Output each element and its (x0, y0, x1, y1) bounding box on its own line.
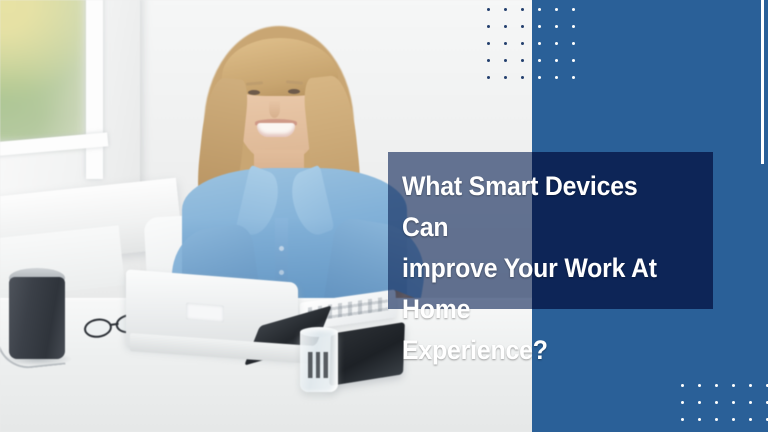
smile (257, 123, 295, 137)
banner-root: What Smart Devices Can improve Your Work… (0, 0, 768, 432)
grid-dot (715, 401, 718, 404)
glass-reflection (308, 352, 328, 378)
grid-dot (504, 42, 507, 45)
eye-right (288, 89, 300, 94)
laptop-logo (186, 303, 224, 323)
grid-dot (749, 384, 752, 387)
grid-dot (732, 384, 735, 387)
grid-dot (698, 418, 701, 421)
eye-left (248, 90, 260, 95)
grid-dot (521, 25, 524, 28)
eyeglass-lens-left (83, 317, 113, 340)
woman-portrait (178, 18, 408, 318)
grid-dot (572, 76, 575, 79)
grid-dot (521, 8, 524, 11)
white-vertical-rule (761, 0, 764, 164)
grid-dot (538, 59, 541, 62)
grid-dot (538, 76, 541, 79)
window-mullion-vertical (86, 0, 103, 179)
grid-dot (487, 25, 490, 28)
grid-dot (504, 59, 507, 62)
grid-dot (698, 384, 701, 387)
grid-dot (555, 8, 558, 11)
grid-dot (715, 418, 718, 421)
grid-dot (487, 59, 490, 62)
grid-dot (555, 76, 558, 79)
grid-dot (572, 59, 575, 62)
grid-dot (572, 42, 575, 45)
nose (269, 100, 280, 118)
grid-dot (555, 59, 558, 62)
grid-dot (504, 25, 507, 28)
grid-dot (749, 401, 752, 404)
grid-dot (715, 384, 718, 387)
dot-grid-bottom (681, 384, 768, 424)
grid-dot (698, 401, 701, 404)
grid-dot (681, 401, 684, 404)
grid-dot (681, 384, 684, 387)
grid-dot (572, 25, 575, 28)
grid-dot (555, 25, 558, 28)
grid-dot (572, 8, 575, 11)
smart-speaker (9, 277, 65, 359)
grid-dot (749, 418, 752, 421)
dot-grid-top (487, 8, 559, 88)
grid-dot (521, 76, 524, 79)
grid-dot (521, 59, 524, 62)
grid-dot (487, 42, 490, 45)
grid-dot (504, 76, 507, 79)
grid-dot (487, 8, 490, 11)
grid-dot (504, 8, 507, 11)
window-glass-foliage (0, 0, 86, 144)
grid-dot (538, 8, 541, 11)
grid-dot (681, 418, 684, 421)
grid-dot (521, 42, 524, 45)
headline-text: What Smart Devices Can improve Your Work… (402, 166, 687, 371)
grid-dot (732, 401, 735, 404)
grid-dot (487, 76, 490, 79)
grid-dot (538, 42, 541, 45)
grid-dot (555, 42, 558, 45)
grid-dot (538, 25, 541, 28)
grid-dot (732, 418, 735, 421)
